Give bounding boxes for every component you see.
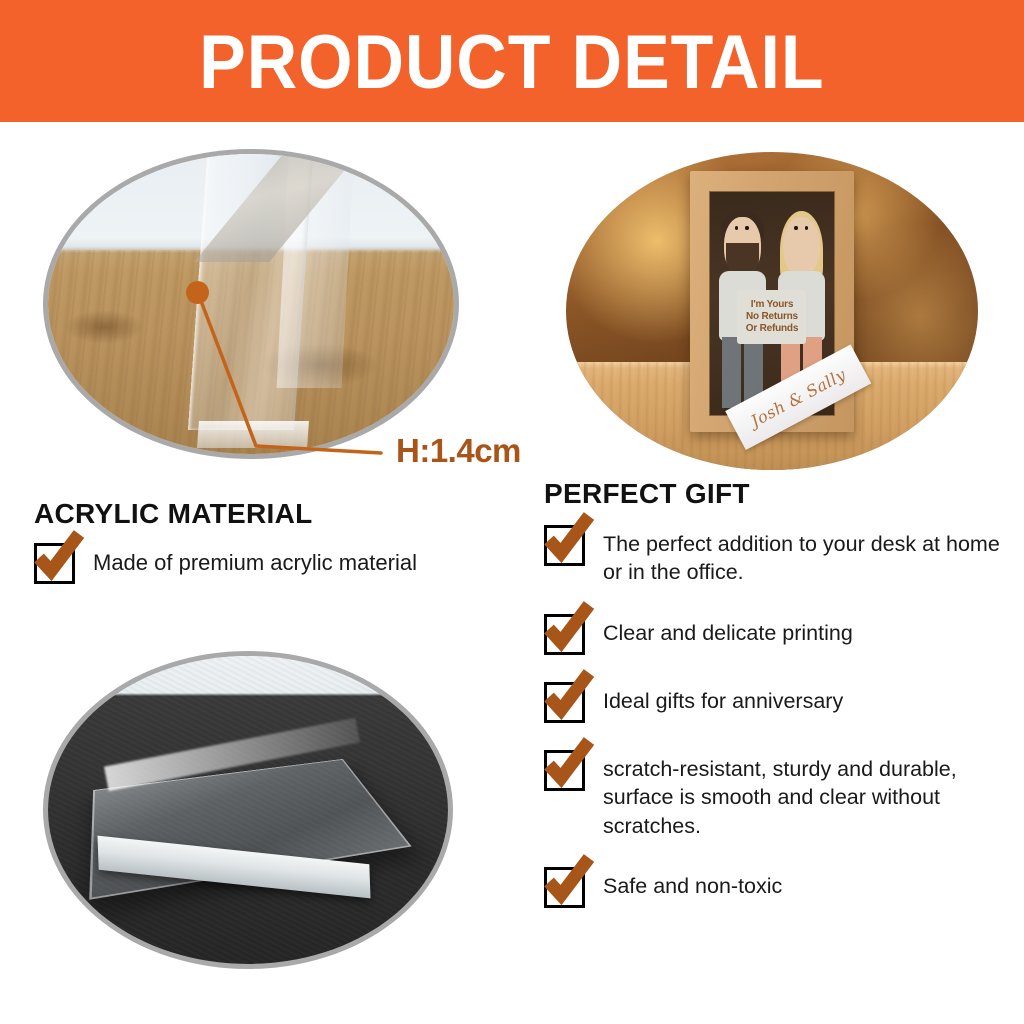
- dimension-marker-dot: [186, 281, 209, 304]
- photo-acrylic-block: [48, 656, 448, 964]
- feature-text: Ideal gifts for anniversary: [603, 682, 843, 715]
- checkbox-checked-icon: [34, 543, 75, 584]
- dimension-label: H:1.4cm: [396, 432, 521, 470]
- photo-acrylic-edge: [48, 154, 454, 454]
- checkbox-checked-icon: [544, 682, 585, 723]
- checkbox-checked-icon: [544, 614, 585, 655]
- photo-acrylic-edge-content: [48, 154, 454, 454]
- feature-list-acrylic-material: Made of premium acrylic material: [34, 543, 534, 606]
- sweater-slogan-line-2: No Returns: [746, 311, 798, 323]
- photo-gift-box-content: I'm Yours No Returns Or Refunds Josh & S…: [566, 152, 978, 470]
- photo-acrylic-block-content: [48, 656, 448, 964]
- checkbox-checked-icon: [544, 867, 585, 908]
- feature-item: Clear and delicate printing: [544, 614, 1014, 655]
- feature-text: Safe and non-toxic: [603, 867, 782, 900]
- heading-acrylic-material: ACRYLIC MATERIAL: [34, 498, 313, 530]
- photo-gift-box: I'm Yours No Returns Or Refunds Josh & S…: [566, 152, 978, 470]
- sweater-slogan-line-1: I'm Yours: [751, 299, 793, 311]
- feature-item: Safe and non-toxic: [544, 867, 1014, 908]
- feature-item: scratch-resistant, sturdy and durable, s…: [544, 750, 1014, 840]
- header-banner: PRODUCT DETAIL: [0, 0, 1024, 122]
- doll-female-eye-left: [794, 226, 797, 230]
- checkbox-checked-icon: [544, 525, 585, 566]
- doll-female-head: [783, 217, 820, 276]
- feature-list-perfect-gift: The perfect addition to your desk at hom…: [544, 525, 1014, 935]
- doll-male-eye-right: [745, 226, 748, 230]
- sweater-slogan: I'm Yours No Returns Or Refunds: [737, 290, 806, 344]
- doll-female-eye-right: [805, 226, 808, 230]
- wood-knot: [64, 310, 144, 344]
- doll-male-eye-left: [735, 226, 738, 230]
- feature-text: The perfect addition to your desk at hom…: [603, 525, 1014, 587]
- sweater-slogan-line-3: Or Refunds: [746, 323, 798, 335]
- checkbox-checked-icon: [544, 750, 585, 791]
- feature-item: Ideal gifts for anniversary: [544, 682, 1014, 723]
- feature-text: scratch-resistant, sturdy and durable, s…: [603, 750, 1014, 840]
- heading-perfect-gift: PERFECT GIFT: [544, 478, 750, 510]
- feature-item: The perfect addition to your desk at hom…: [544, 525, 1014, 587]
- acrylic-slab-base: [197, 421, 308, 448]
- feature-text: Clear and delicate printing: [603, 614, 853, 647]
- page-title: PRODUCT DETAIL: [199, 25, 824, 101]
- gift-box: I'm Yours No Returns Or Refunds Josh & S…: [690, 171, 855, 432]
- feature-item: Made of premium acrylic material: [34, 543, 534, 584]
- feature-text: Made of premium acrylic material: [93, 543, 417, 577]
